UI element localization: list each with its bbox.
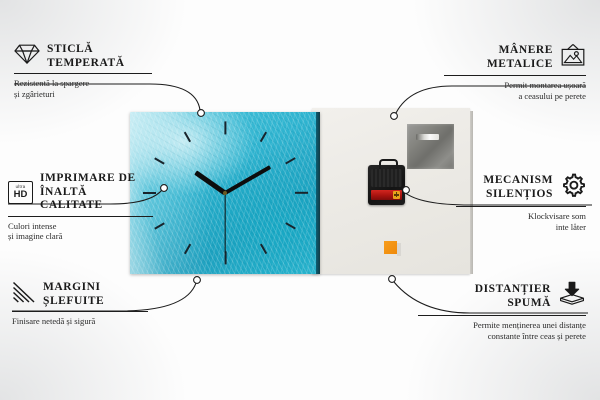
feature-subtitle: Culori intense și imagine clară bbox=[8, 221, 153, 242]
hour-tick bbox=[224, 122, 226, 135]
feature-divider bbox=[8, 216, 153, 217]
beveled-edge-icon bbox=[12, 281, 36, 308]
hour-tick bbox=[224, 251, 226, 264]
hour-tick bbox=[295, 192, 308, 194]
metal-hanger-plate bbox=[407, 124, 454, 169]
feature-subtitle: Rezistentă la spargere și zgârieturi bbox=[14, 78, 152, 99]
feature-subtitle: Permit montarea ușoară a ceasului pe per… bbox=[444, 80, 586, 101]
feature-subtitle: Permite menținerea unei distanțe constan… bbox=[418, 320, 586, 341]
battery bbox=[371, 190, 402, 200]
feature-divider bbox=[12, 311, 148, 312]
ultra-hd-large-label: HD bbox=[14, 190, 28, 200]
feature-divider bbox=[444, 75, 586, 76]
diamond-icon bbox=[14, 43, 40, 70]
feature-metal-handles: MÂNERE METALICE Permit montarea ușoară a… bbox=[444, 43, 586, 101]
ultra-hd-icon: ultra HD bbox=[8, 181, 33, 204]
feature-title: STICLĂ TEMPERATĂ bbox=[47, 43, 125, 70]
second-hand bbox=[224, 193, 225, 253]
feature-subtitle: Klockvisare som inte låter bbox=[456, 211, 586, 232]
feature-divider bbox=[14, 73, 152, 74]
hour-tick bbox=[286, 222, 296, 229]
feature-tempered-glass: STICLĂ TEMPERATĂ Rezistentă la spargere … bbox=[14, 43, 152, 99]
clock-face bbox=[130, 112, 320, 274]
hour-tick bbox=[286, 157, 296, 164]
clock-mechanism bbox=[368, 165, 405, 205]
infographic-canvas: STICLĂ TEMPERATĂ Rezistentă la spargere … bbox=[0, 0, 600, 400]
product-image bbox=[130, 108, 470, 278]
feature-title: IMPRIMARE DE ÎNALTĂ CALITATE bbox=[40, 172, 153, 213]
foam-spacer bbox=[384, 241, 397, 254]
hour-tick bbox=[259, 132, 266, 142]
feature-title: DISTANȚIER SPUMĂ bbox=[475, 283, 551, 310]
picture-frame-hanger-icon bbox=[560, 43, 586, 72]
feature-title: MECANISM SILENȚIOS bbox=[483, 174, 553, 201]
feature-silent-mechanism: MECANISM SILENȚIOS Klockvisare som inte … bbox=[456, 172, 586, 232]
mechanism-body bbox=[371, 169, 402, 187]
feature-title: MARGINI ȘLEFUITE bbox=[43, 281, 104, 308]
battery-plus-terminal bbox=[393, 191, 400, 199]
gear-icon bbox=[560, 172, 586, 203]
feature-divider bbox=[418, 315, 586, 316]
feature-foam-spacer: DISTANȚIER SPUMĂ Permite menținerea unei… bbox=[418, 281, 586, 341]
feature-subtitle: Finisare netedă și sigură bbox=[12, 316, 148, 327]
glass-edge bbox=[316, 112, 320, 274]
hanger-slot bbox=[416, 134, 439, 140]
clock-back-panel bbox=[312, 108, 470, 274]
feature-title: MÂNERE METALICE bbox=[487, 44, 553, 71]
hour-tick bbox=[259, 244, 266, 254]
clock-hub bbox=[223, 191, 227, 195]
feature-divider bbox=[456, 206, 586, 207]
down-arrow-pad-icon bbox=[558, 281, 586, 312]
feature-high-quality-print: ultra HD IMPRIMARE DE ÎNALTĂ CALITATE Cu… bbox=[8, 172, 153, 242]
feature-polished-edges: MARGINI ȘLEFUITE Finisare netedă și sigu… bbox=[12, 281, 148, 327]
